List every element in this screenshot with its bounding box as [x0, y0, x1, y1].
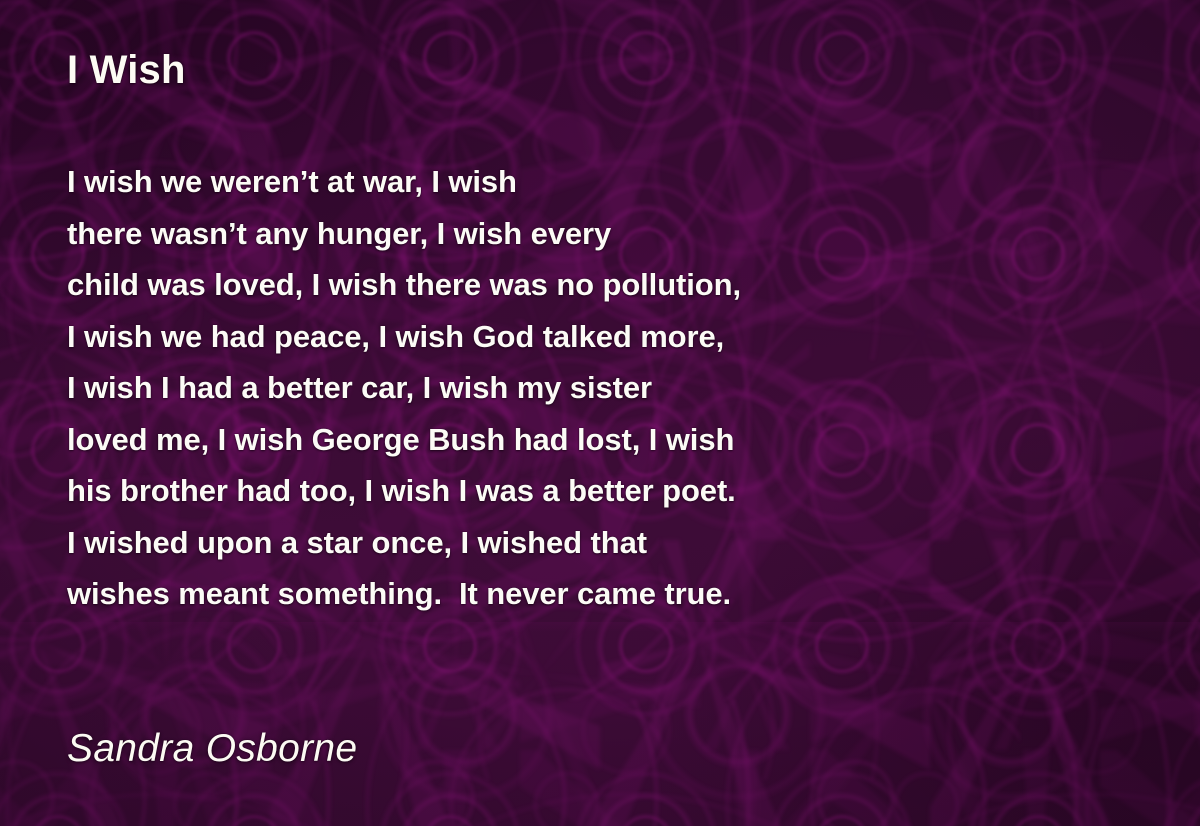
- poem-line: I wish we weren’t at war, I wish: [67, 156, 741, 208]
- poem-author: Sandra Osborne: [67, 727, 357, 771]
- poem-line: I wish we had peace, I wish God talked m…: [67, 311, 741, 363]
- poem-card: I Wish I wish we weren’t at war, I wish …: [0, 0, 1200, 826]
- poem-line: I wished upon a star once, I wished that: [67, 517, 741, 569]
- poem-line: there wasn’t any hunger, I wish every: [67, 208, 741, 260]
- poem-line: his brother had too, I wish I was a bett…: [67, 465, 741, 517]
- poem-body: I wish we weren’t at war, I wish there w…: [67, 156, 741, 620]
- poem-title: I Wish: [67, 48, 186, 93]
- poem-content: I Wish I wish we weren’t at war, I wish …: [0, 0, 1200, 826]
- poem-line: wishes meant something. It never came tr…: [67, 568, 741, 620]
- poem-line: I wish I had a better car, I wish my sis…: [67, 362, 741, 414]
- poem-line: loved me, I wish George Bush had lost, I…: [67, 414, 741, 466]
- poem-line: child was loved, I wish there was no pol…: [67, 259, 741, 311]
